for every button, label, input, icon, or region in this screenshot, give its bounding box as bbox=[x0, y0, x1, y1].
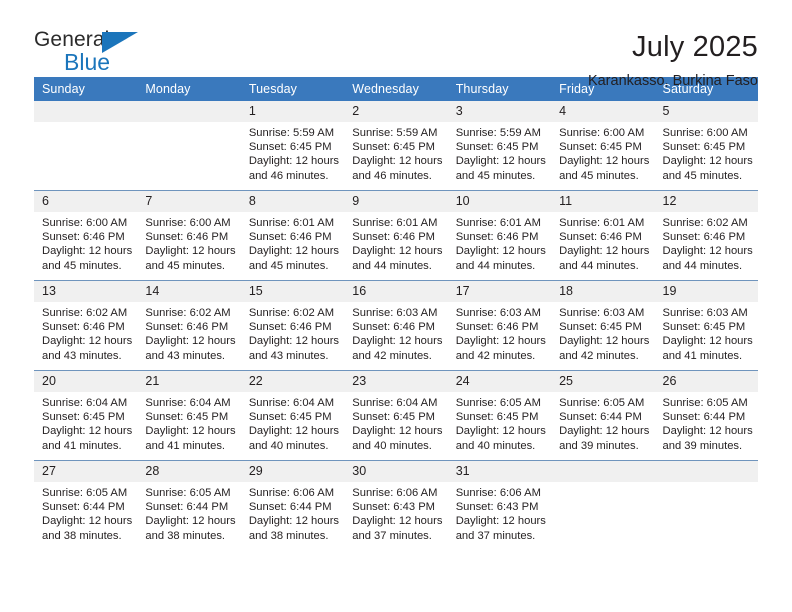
calendar-day-cell-empty bbox=[551, 461, 654, 551]
daylight-text-line1: Daylight: 12 hours bbox=[42, 424, 131, 438]
day-number: 17 bbox=[448, 281, 551, 302]
sunrise-text: Sunrise: 6:05 AM bbox=[559, 396, 648, 410]
day-number: 10 bbox=[448, 191, 551, 212]
calendar-day-cell[interactable]: 21Sunrise: 6:04 AMSunset: 6:45 PMDayligh… bbox=[137, 371, 240, 461]
day-details: Sunrise: 6:05 AMSunset: 6:44 PMDaylight:… bbox=[34, 482, 137, 543]
day-details: Sunrise: 5:59 AMSunset: 6:45 PMDaylight:… bbox=[448, 122, 551, 183]
calendar-day-cell[interactable]: 4Sunrise: 6:00 AMSunset: 6:45 PMDaylight… bbox=[551, 101, 654, 191]
calendar-day-cell[interactable]: 5Sunrise: 6:00 AMSunset: 6:45 PMDaylight… bbox=[655, 101, 758, 191]
day-details: Sunrise: 6:05 AMSunset: 6:44 PMDaylight:… bbox=[137, 482, 240, 543]
sunrise-text: Sunrise: 6:02 AM bbox=[42, 306, 131, 320]
sunrise-text: Sunrise: 6:04 AM bbox=[145, 396, 234, 410]
sunset-text: Sunset: 6:45 PM bbox=[559, 320, 648, 334]
calendar-day-cell[interactable]: 29Sunrise: 6:06 AMSunset: 6:44 PMDayligh… bbox=[241, 461, 344, 551]
day-details: Sunrise: 6:00 AMSunset: 6:46 PMDaylight:… bbox=[34, 212, 137, 273]
day-details: Sunrise: 6:01 AMSunset: 6:46 PMDaylight:… bbox=[551, 212, 654, 273]
day-details: Sunrise: 6:00 AMSunset: 6:46 PMDaylight:… bbox=[137, 212, 240, 273]
day-number: 21 bbox=[137, 371, 240, 392]
calendar-day-cell[interactable]: 14Sunrise: 6:02 AMSunset: 6:46 PMDayligh… bbox=[137, 281, 240, 371]
sunrise-text: Sunrise: 6:03 AM bbox=[456, 306, 545, 320]
sunset-text: Sunset: 6:44 PM bbox=[145, 500, 234, 514]
day-number: 12 bbox=[655, 191, 758, 212]
day-number: 20 bbox=[34, 371, 137, 392]
sunset-text: Sunset: 6:46 PM bbox=[663, 230, 752, 244]
sunrise-text: Sunrise: 6:04 AM bbox=[352, 396, 441, 410]
daylight-text-line2: and 43 minutes. bbox=[42, 349, 131, 363]
calendar-day-cell-empty bbox=[137, 101, 240, 191]
sunrise-text: Sunrise: 6:00 AM bbox=[559, 126, 648, 140]
sunset-text: Sunset: 6:44 PM bbox=[663, 410, 752, 424]
sunset-text: Sunset: 6:45 PM bbox=[559, 140, 648, 154]
calendar-day-cell[interactable]: 19Sunrise: 6:03 AMSunset: 6:45 PMDayligh… bbox=[655, 281, 758, 371]
weekday-header-tuesday: Tuesday bbox=[241, 77, 344, 101]
sunset-text: Sunset: 6:46 PM bbox=[249, 230, 338, 244]
sunset-text: Sunset: 6:45 PM bbox=[249, 410, 338, 424]
sunset-text: Sunset: 6:45 PM bbox=[456, 140, 545, 154]
day-number bbox=[655, 461, 758, 482]
day-number: 11 bbox=[551, 191, 654, 212]
calendar-day-cell[interactable]: 12Sunrise: 6:02 AMSunset: 6:46 PMDayligh… bbox=[655, 191, 758, 281]
day-number: 23 bbox=[344, 371, 447, 392]
day-details bbox=[137, 122, 240, 126]
sunrise-text: Sunrise: 6:02 AM bbox=[663, 216, 752, 230]
day-details: Sunrise: 6:02 AMSunset: 6:46 PMDaylight:… bbox=[655, 212, 758, 273]
daylight-text-line1: Daylight: 12 hours bbox=[352, 514, 441, 528]
calendar-day-cell[interactable]: 18Sunrise: 6:03 AMSunset: 6:45 PMDayligh… bbox=[551, 281, 654, 371]
sunset-text: Sunset: 6:44 PM bbox=[559, 410, 648, 424]
sunrise-text: Sunrise: 6:05 AM bbox=[456, 396, 545, 410]
sunrise-text: Sunrise: 6:01 AM bbox=[456, 216, 545, 230]
calendar-day-cell[interactable]: 15Sunrise: 6:02 AMSunset: 6:46 PMDayligh… bbox=[241, 281, 344, 371]
day-number: 19 bbox=[655, 281, 758, 302]
daylight-text-line1: Daylight: 12 hours bbox=[249, 244, 338, 258]
daylight-text-line2: and 38 minutes. bbox=[145, 529, 234, 543]
day-details: Sunrise: 6:05 AMSunset: 6:44 PMDaylight:… bbox=[655, 392, 758, 453]
calendar-day-cell[interactable]: 25Sunrise: 6:05 AMSunset: 6:44 PMDayligh… bbox=[551, 371, 654, 461]
page-header: General Blue July 2025 Karankasso, Burki… bbox=[34, 0, 758, 72]
logo-text-blue: Blue bbox=[64, 49, 110, 75]
calendar-day-cell[interactable]: 20Sunrise: 6:04 AMSunset: 6:45 PMDayligh… bbox=[34, 371, 137, 461]
daylight-text-line1: Daylight: 12 hours bbox=[663, 244, 752, 258]
calendar-day-cell[interactable]: 3Sunrise: 5:59 AMSunset: 6:45 PMDaylight… bbox=[448, 101, 551, 191]
sunrise-text: Sunrise: 5:59 AM bbox=[352, 126, 441, 140]
daylight-text-line2: and 45 minutes. bbox=[456, 169, 545, 183]
day-number: 14 bbox=[137, 281, 240, 302]
sunset-text: Sunset: 6:45 PM bbox=[249, 140, 338, 154]
day-number bbox=[34, 101, 137, 122]
daylight-text-line2: and 45 minutes. bbox=[559, 169, 648, 183]
sunset-text: Sunset: 6:46 PM bbox=[145, 230, 234, 244]
sunset-text: Sunset: 6:44 PM bbox=[42, 500, 131, 514]
calendar-day-cell[interactable]: 26Sunrise: 6:05 AMSunset: 6:44 PMDayligh… bbox=[655, 371, 758, 461]
daylight-text-line2: and 41 minutes. bbox=[663, 349, 752, 363]
day-details: Sunrise: 5:59 AMSunset: 6:45 PMDaylight:… bbox=[241, 122, 344, 183]
sunrise-text: Sunrise: 6:05 AM bbox=[42, 486, 131, 500]
daylight-text-line2: and 44 minutes. bbox=[663, 259, 752, 273]
day-details: Sunrise: 6:01 AMSunset: 6:46 PMDaylight:… bbox=[241, 212, 344, 273]
day-number: 3 bbox=[448, 101, 551, 122]
daylight-text-line1: Daylight: 12 hours bbox=[145, 424, 234, 438]
calendar-day-cell[interactable]: 31Sunrise: 6:06 AMSunset: 6:43 PMDayligh… bbox=[448, 461, 551, 551]
day-details bbox=[655, 482, 758, 486]
day-details: Sunrise: 6:00 AMSunset: 6:45 PMDaylight:… bbox=[551, 122, 654, 183]
daylight-text-line1: Daylight: 12 hours bbox=[352, 154, 441, 168]
sunrise-text: Sunrise: 6:00 AM bbox=[663, 126, 752, 140]
daylight-text-line2: and 41 minutes. bbox=[145, 439, 234, 453]
day-number: 8 bbox=[241, 191, 344, 212]
daylight-text-line1: Daylight: 12 hours bbox=[559, 154, 648, 168]
sunset-text: Sunset: 6:44 PM bbox=[249, 500, 338, 514]
daylight-text-line1: Daylight: 12 hours bbox=[456, 334, 545, 348]
calendar-day-cell[interactable]: 9Sunrise: 6:01 AMSunset: 6:46 PMDaylight… bbox=[344, 191, 447, 281]
day-details: Sunrise: 6:00 AMSunset: 6:45 PMDaylight:… bbox=[655, 122, 758, 183]
day-details: Sunrise: 6:03 AMSunset: 6:46 PMDaylight:… bbox=[448, 302, 551, 363]
day-details: Sunrise: 6:02 AMSunset: 6:46 PMDaylight:… bbox=[241, 302, 344, 363]
daylight-text-line2: and 45 minutes. bbox=[663, 169, 752, 183]
daylight-text-line1: Daylight: 12 hours bbox=[663, 334, 752, 348]
daylight-text-line2: and 43 minutes. bbox=[145, 349, 234, 363]
sunrise-text: Sunrise: 6:02 AM bbox=[145, 306, 234, 320]
calendar-week-row: 6Sunrise: 6:00 AMSunset: 6:46 PMDaylight… bbox=[34, 191, 758, 281]
sunrise-text: Sunrise: 6:01 AM bbox=[249, 216, 338, 230]
daylight-text-line1: Daylight: 12 hours bbox=[456, 244, 545, 258]
calendar-day-cell-empty bbox=[655, 461, 758, 551]
day-number: 28 bbox=[137, 461, 240, 482]
day-number: 25 bbox=[551, 371, 654, 392]
calendar-day-cell[interactable]: 7Sunrise: 6:00 AMSunset: 6:46 PMDaylight… bbox=[137, 191, 240, 281]
day-details: Sunrise: 6:06 AMSunset: 6:43 PMDaylight:… bbox=[448, 482, 551, 543]
daylight-text-line2: and 37 minutes. bbox=[352, 529, 441, 543]
daylight-text-line1: Daylight: 12 hours bbox=[559, 244, 648, 258]
daylight-text-line2: and 42 minutes. bbox=[559, 349, 648, 363]
day-details: Sunrise: 6:06 AMSunset: 6:44 PMDaylight:… bbox=[241, 482, 344, 543]
daylight-text-line2: and 45 minutes. bbox=[145, 259, 234, 273]
daylight-text-line1: Daylight: 12 hours bbox=[352, 424, 441, 438]
daylight-text-line2: and 38 minutes. bbox=[42, 529, 131, 543]
daylight-text-line2: and 37 minutes. bbox=[456, 529, 545, 543]
sunrise-text: Sunrise: 5:59 AM bbox=[249, 126, 338, 140]
day-details: Sunrise: 6:05 AMSunset: 6:45 PMDaylight:… bbox=[448, 392, 551, 453]
daylight-text-line2: and 44 minutes. bbox=[559, 259, 648, 273]
day-details: Sunrise: 6:01 AMSunset: 6:46 PMDaylight:… bbox=[448, 212, 551, 273]
day-number: 15 bbox=[241, 281, 344, 302]
sunrise-text: Sunrise: 6:05 AM bbox=[145, 486, 234, 500]
sunrise-text: Sunrise: 6:04 AM bbox=[249, 396, 338, 410]
daylight-text-line2: and 38 minutes. bbox=[249, 529, 338, 543]
sunrise-text: Sunrise: 6:04 AM bbox=[42, 396, 131, 410]
calendar-day-cell-empty bbox=[34, 101, 137, 191]
day-details: Sunrise: 6:03 AMSunset: 6:45 PMDaylight:… bbox=[551, 302, 654, 363]
day-details bbox=[34, 122, 137, 126]
sunset-text: Sunset: 6:46 PM bbox=[352, 320, 441, 334]
calendar-day-cell[interactable]: 28Sunrise: 6:05 AMSunset: 6:44 PMDayligh… bbox=[137, 461, 240, 551]
calendar-day-cell[interactable]: 17Sunrise: 6:03 AMSunset: 6:46 PMDayligh… bbox=[448, 281, 551, 371]
day-details: Sunrise: 6:02 AMSunset: 6:46 PMDaylight:… bbox=[34, 302, 137, 363]
daylight-text-line2: and 46 minutes. bbox=[352, 169, 441, 183]
sunrise-text: Sunrise: 5:59 AM bbox=[456, 126, 545, 140]
day-number: 16 bbox=[344, 281, 447, 302]
calendar-week-row: 13Sunrise: 6:02 AMSunset: 6:46 PMDayligh… bbox=[34, 281, 758, 371]
day-number: 24 bbox=[448, 371, 551, 392]
sunrise-text: Sunrise: 6:01 AM bbox=[352, 216, 441, 230]
daylight-text-line1: Daylight: 12 hours bbox=[249, 334, 338, 348]
sunset-text: Sunset: 6:46 PM bbox=[559, 230, 648, 244]
sunrise-text: Sunrise: 6:03 AM bbox=[559, 306, 648, 320]
sunset-text: Sunset: 6:46 PM bbox=[456, 230, 545, 244]
calendar-day-cell[interactable]: 22Sunrise: 6:04 AMSunset: 6:45 PMDayligh… bbox=[241, 371, 344, 461]
daylight-text-line1: Daylight: 12 hours bbox=[559, 424, 648, 438]
page-title: July 2025 bbox=[588, 30, 758, 64]
daylight-text-line1: Daylight: 12 hours bbox=[249, 514, 338, 528]
daylight-text-line2: and 39 minutes. bbox=[663, 439, 752, 453]
month-calendar: Sunday Monday Tuesday Wednesday Thursday… bbox=[34, 77, 758, 550]
sunset-text: Sunset: 6:46 PM bbox=[42, 230, 131, 244]
daylight-text-line1: Daylight: 12 hours bbox=[42, 514, 131, 528]
daylight-text-line1: Daylight: 12 hours bbox=[663, 154, 752, 168]
daylight-text-line2: and 40 minutes. bbox=[249, 439, 338, 453]
sunrise-text: Sunrise: 6:06 AM bbox=[352, 486, 441, 500]
day-number: 1 bbox=[241, 101, 344, 122]
daylight-text-line1: Daylight: 12 hours bbox=[42, 334, 131, 348]
sunrise-text: Sunrise: 6:00 AM bbox=[42, 216, 131, 230]
calendar-day-cell[interactable]: 6Sunrise: 6:00 AMSunset: 6:46 PMDaylight… bbox=[34, 191, 137, 281]
sunset-text: Sunset: 6:45 PM bbox=[42, 410, 131, 424]
sunset-text: Sunset: 6:46 PM bbox=[42, 320, 131, 334]
day-details: Sunrise: 6:04 AMSunset: 6:45 PMDaylight:… bbox=[241, 392, 344, 453]
calendar-day-cell[interactable]: 27Sunrise: 6:05 AMSunset: 6:44 PMDayligh… bbox=[34, 461, 137, 551]
sunset-text: Sunset: 6:43 PM bbox=[352, 500, 441, 514]
calendar-week-row: 1Sunrise: 5:59 AMSunset: 6:45 PMDaylight… bbox=[34, 101, 758, 191]
daylight-text-line1: Daylight: 12 hours bbox=[456, 154, 545, 168]
daylight-text-line2: and 40 minutes. bbox=[456, 439, 545, 453]
day-number: 2 bbox=[344, 101, 447, 122]
calendar-day-cell[interactable]: 24Sunrise: 6:05 AMSunset: 6:45 PMDayligh… bbox=[448, 371, 551, 461]
calendar-week-row: 20Sunrise: 6:04 AMSunset: 6:45 PMDayligh… bbox=[34, 371, 758, 461]
daylight-text-line1: Daylight: 12 hours bbox=[145, 334, 234, 348]
weekday-header-thursday: Thursday bbox=[448, 77, 551, 101]
day-details: Sunrise: 5:59 AMSunset: 6:45 PMDaylight:… bbox=[344, 122, 447, 183]
daylight-text-line1: Daylight: 12 hours bbox=[456, 424, 545, 438]
sunrise-text: Sunrise: 6:00 AM bbox=[145, 216, 234, 230]
day-details: Sunrise: 6:02 AMSunset: 6:46 PMDaylight:… bbox=[137, 302, 240, 363]
daylight-text-line1: Daylight: 12 hours bbox=[145, 514, 234, 528]
day-number: 9 bbox=[344, 191, 447, 212]
daylight-text-line2: and 41 minutes. bbox=[42, 439, 131, 453]
calendar-day-cell[interactable]: 13Sunrise: 6:02 AMSunset: 6:46 PMDayligh… bbox=[34, 281, 137, 371]
daylight-text-line1: Daylight: 12 hours bbox=[42, 244, 131, 258]
daylight-text-line2: and 44 minutes. bbox=[456, 259, 545, 273]
sunrise-text: Sunrise: 6:06 AM bbox=[456, 486, 545, 500]
daylight-text-line2: and 42 minutes. bbox=[456, 349, 545, 363]
day-details: Sunrise: 6:04 AMSunset: 6:45 PMDaylight:… bbox=[137, 392, 240, 453]
daylight-text-line1: Daylight: 12 hours bbox=[663, 424, 752, 438]
day-number: 18 bbox=[551, 281, 654, 302]
day-details: Sunrise: 6:03 AMSunset: 6:45 PMDaylight:… bbox=[655, 302, 758, 363]
sunset-text: Sunset: 6:45 PM bbox=[145, 410, 234, 424]
daylight-text-line1: Daylight: 12 hours bbox=[352, 334, 441, 348]
calendar-day-cell[interactable]: 16Sunrise: 6:03 AMSunset: 6:46 PMDayligh… bbox=[344, 281, 447, 371]
calendar-day-cell[interactable]: 8Sunrise: 6:01 AMSunset: 6:46 PMDaylight… bbox=[241, 191, 344, 281]
calendar-day-cell[interactable]: 23Sunrise: 6:04 AMSunset: 6:45 PMDayligh… bbox=[344, 371, 447, 461]
daylight-text-line1: Daylight: 12 hours bbox=[249, 154, 338, 168]
day-number: 13 bbox=[34, 281, 137, 302]
day-details: Sunrise: 6:03 AMSunset: 6:46 PMDaylight:… bbox=[344, 302, 447, 363]
day-number: 31 bbox=[448, 461, 551, 482]
sunrise-text: Sunrise: 6:03 AM bbox=[663, 306, 752, 320]
day-details bbox=[551, 482, 654, 486]
daylight-text-line1: Daylight: 12 hours bbox=[249, 424, 338, 438]
daylight-text-line2: and 45 minutes. bbox=[249, 259, 338, 273]
daylight-text-line1: Daylight: 12 hours bbox=[352, 244, 441, 258]
weekday-header-sunday: Sunday bbox=[34, 77, 137, 101]
day-number bbox=[137, 101, 240, 122]
sunset-text: Sunset: 6:45 PM bbox=[663, 320, 752, 334]
sunset-text: Sunset: 6:46 PM bbox=[456, 320, 545, 334]
calendar-day-cell[interactable]: 2Sunrise: 5:59 AMSunset: 6:45 PMDaylight… bbox=[344, 101, 447, 191]
sunrise-text: Sunrise: 6:02 AM bbox=[249, 306, 338, 320]
day-number: 5 bbox=[655, 101, 758, 122]
day-number: 6 bbox=[34, 191, 137, 212]
day-details: Sunrise: 6:05 AMSunset: 6:44 PMDaylight:… bbox=[551, 392, 654, 453]
day-number bbox=[551, 461, 654, 482]
day-number: 30 bbox=[344, 461, 447, 482]
daylight-text-line2: and 42 minutes. bbox=[352, 349, 441, 363]
weekday-header-monday: Monday bbox=[137, 77, 240, 101]
daylight-text-line2: and 46 minutes. bbox=[249, 169, 338, 183]
sunset-text: Sunset: 6:46 PM bbox=[145, 320, 234, 334]
daylight-text-line2: and 44 minutes. bbox=[352, 259, 441, 273]
sunset-text: Sunset: 6:46 PM bbox=[352, 230, 441, 244]
day-number: 27 bbox=[34, 461, 137, 482]
daylight-text-line2: and 40 minutes. bbox=[352, 439, 441, 453]
sunrise-text: Sunrise: 6:06 AM bbox=[249, 486, 338, 500]
sunset-text: Sunset: 6:45 PM bbox=[352, 410, 441, 424]
day-details: Sunrise: 6:06 AMSunset: 6:43 PMDaylight:… bbox=[344, 482, 447, 543]
day-details: Sunrise: 6:04 AMSunset: 6:45 PMDaylight:… bbox=[34, 392, 137, 453]
daylight-text-line1: Daylight: 12 hours bbox=[559, 334, 648, 348]
sunset-text: Sunset: 6:43 PM bbox=[456, 500, 545, 514]
sunset-text: Sunset: 6:45 PM bbox=[456, 410, 545, 424]
calendar-day-cell[interactable]: 30Sunrise: 6:06 AMSunset: 6:43 PMDayligh… bbox=[344, 461, 447, 551]
calendar-day-cell[interactable]: 11Sunrise: 6:01 AMSunset: 6:46 PMDayligh… bbox=[551, 191, 654, 281]
sunrise-text: Sunrise: 6:01 AM bbox=[559, 216, 648, 230]
sunset-text: Sunset: 6:45 PM bbox=[352, 140, 441, 154]
calendar-day-cell[interactable]: 10Sunrise: 6:01 AMSunset: 6:46 PMDayligh… bbox=[448, 191, 551, 281]
weekday-header-wednesday: Wednesday bbox=[344, 77, 447, 101]
sunset-text: Sunset: 6:45 PM bbox=[663, 140, 752, 154]
day-number: 26 bbox=[655, 371, 758, 392]
day-number: 7 bbox=[137, 191, 240, 212]
sunrise-text: Sunrise: 6:03 AM bbox=[352, 306, 441, 320]
calendar-week-row: 27Sunrise: 6:05 AMSunset: 6:44 PMDayligh… bbox=[34, 461, 758, 551]
daylight-text-line2: and 39 minutes. bbox=[559, 439, 648, 453]
daylight-text-line2: and 45 minutes. bbox=[42, 259, 131, 273]
general-blue-logo[interactable]: General Blue bbox=[34, 28, 154, 80]
calendar-day-cell[interactable]: 1Sunrise: 5:59 AMSunset: 6:45 PMDaylight… bbox=[241, 101, 344, 191]
day-number: 4 bbox=[551, 101, 654, 122]
daylight-text-line1: Daylight: 12 hours bbox=[145, 244, 234, 258]
daylight-text-line1: Daylight: 12 hours bbox=[456, 514, 545, 528]
sunset-text: Sunset: 6:46 PM bbox=[249, 320, 338, 334]
day-details: Sunrise: 6:04 AMSunset: 6:45 PMDaylight:… bbox=[344, 392, 447, 453]
sunrise-text: Sunrise: 6:05 AM bbox=[663, 396, 752, 410]
day-number: 22 bbox=[241, 371, 344, 392]
calendar-page: General Blue July 2025 Karankasso, Burki… bbox=[0, 0, 792, 612]
day-number: 29 bbox=[241, 461, 344, 482]
day-details: Sunrise: 6:01 AMSunset: 6:46 PMDaylight:… bbox=[344, 212, 447, 273]
daylight-text-line2: and 43 minutes. bbox=[249, 349, 338, 363]
